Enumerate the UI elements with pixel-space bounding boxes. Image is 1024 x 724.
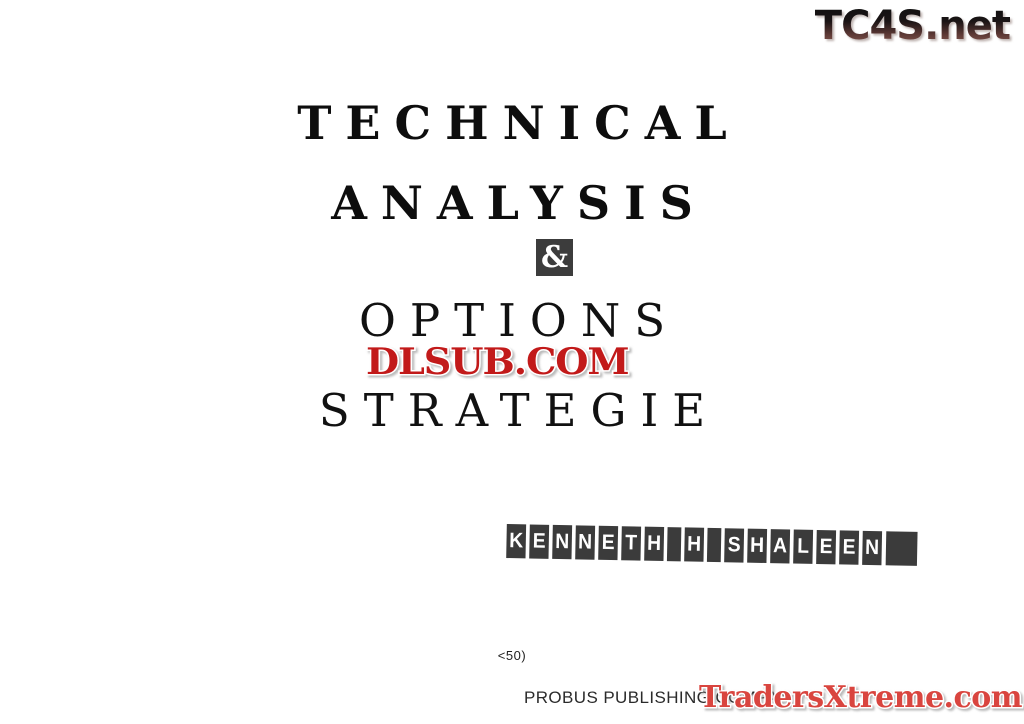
cover-title-line-technical: TECHNICAL (0, 100, 1024, 146)
author-tile: N (862, 531, 882, 565)
cover-subtitle-line-options: OPTIONS (0, 298, 1024, 343)
author-tile-spacer (707, 528, 721, 562)
author-tile: K (506, 524, 526, 558)
author-tile: S (724, 528, 744, 562)
author-tile: E (816, 530, 836, 564)
cover-title-line-analysis: ANALYSIS (0, 180, 1024, 226)
cover-author-name: K E N N E T H H S H A L E E N (505, 524, 919, 566)
watermark-tc4s-net: TC4S.net (815, 6, 1010, 46)
watermark-tradersxtreme-com: TradersXtreme.com (699, 683, 1022, 713)
author-tile: E (598, 526, 618, 560)
book-cover-page: TC4S.net TECHNICAL ANALYSIS & OPTIONS DL… (0, 0, 1024, 724)
author-tile: H (644, 527, 664, 561)
author-tile: H (684, 527, 704, 561)
author-tile: E (839, 530, 859, 564)
author-tile-spacer (667, 527, 681, 561)
author-tile: E (529, 524, 549, 558)
author-tile: L (793, 530, 813, 564)
author-tile: T (621, 526, 641, 560)
author-tile: N (575, 525, 595, 559)
author-tile: A (770, 529, 790, 563)
watermark-dlsub-com: DLSUB.COM (366, 344, 629, 380)
cover-subtitle-line-strategie: STRATEGIE (0, 388, 1024, 433)
page-number-artifact: <50) (0, 648, 1024, 663)
cover-ampersand-block: & (536, 239, 573, 276)
author-tile: H (747, 529, 767, 563)
author-tile-blank (886, 531, 918, 566)
author-tile: N (552, 525, 572, 559)
